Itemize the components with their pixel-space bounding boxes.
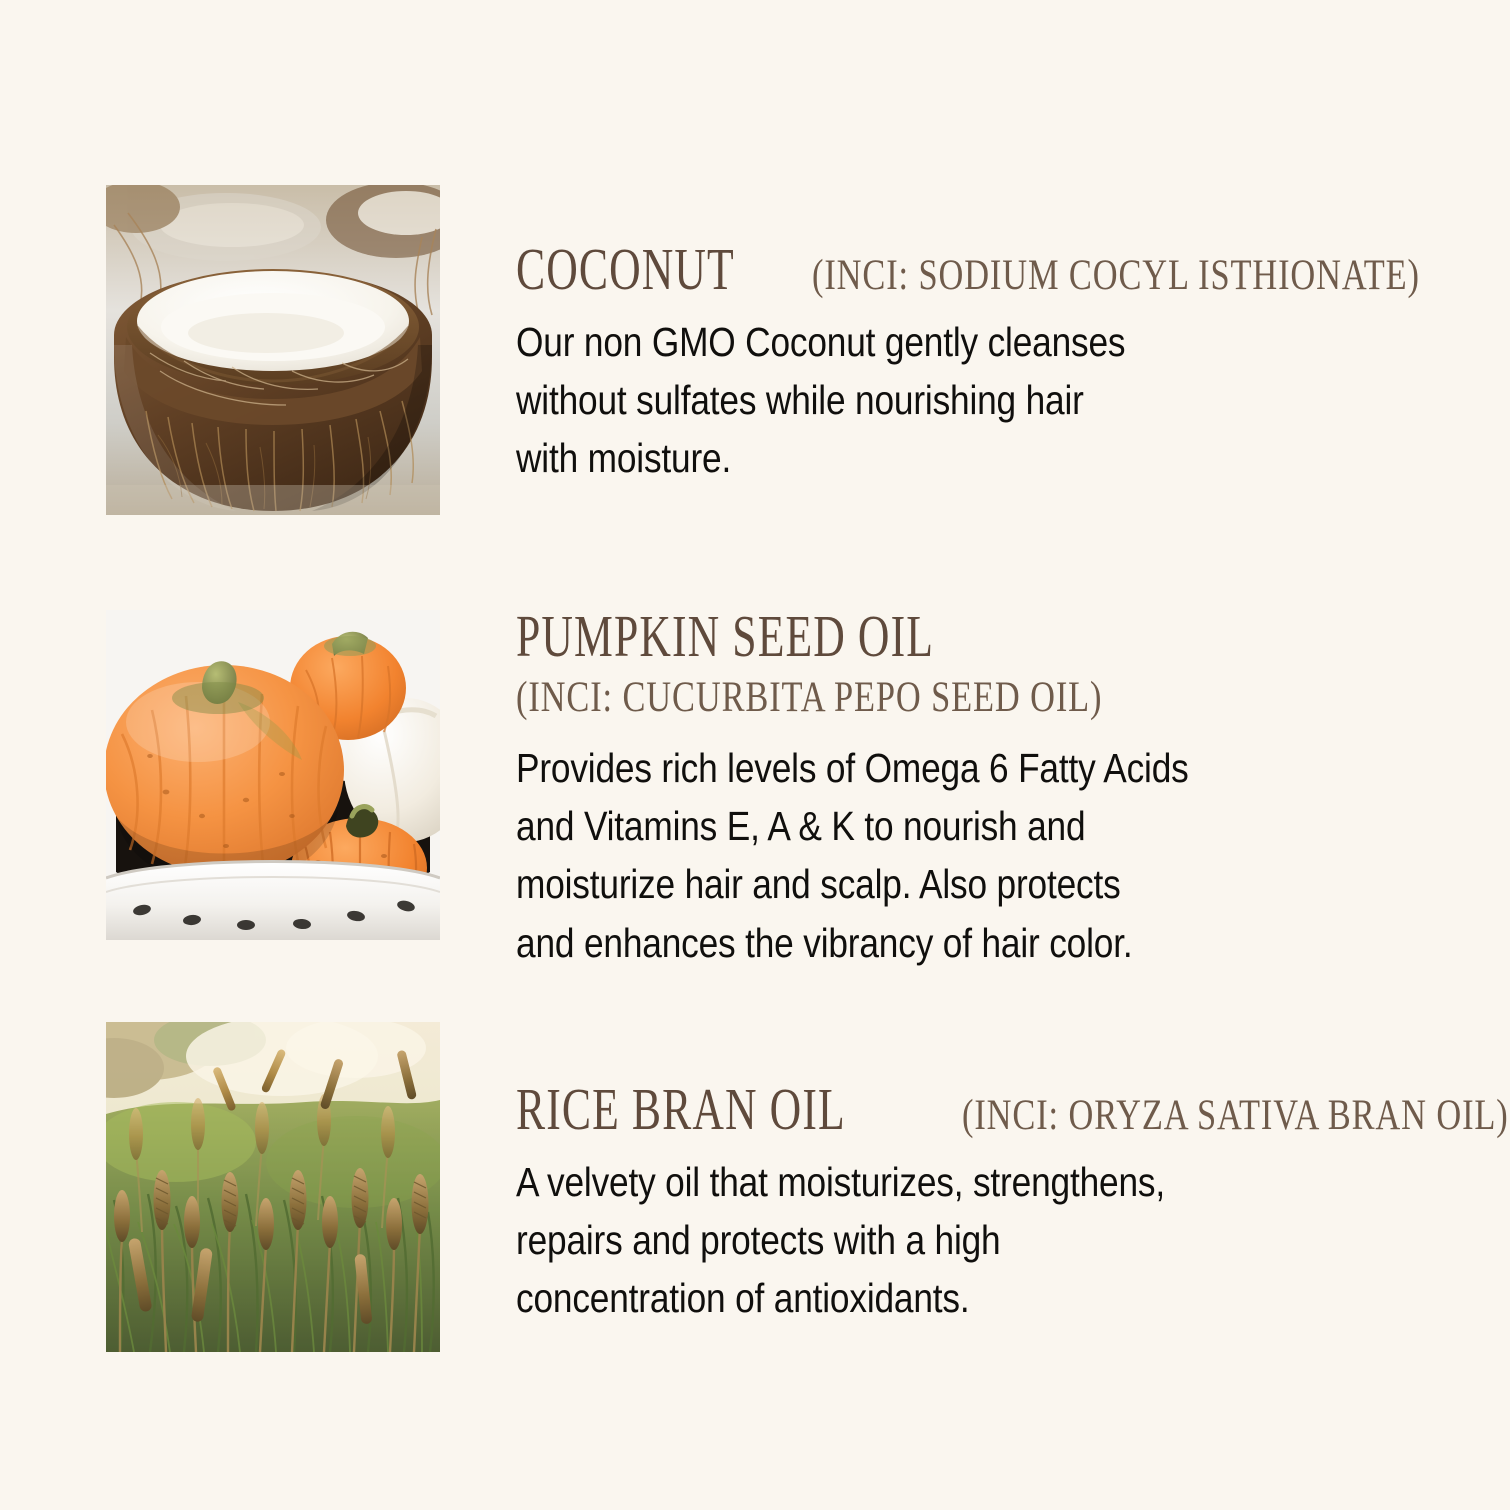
ingredient-benefits-panel: COCONUT(INCI: SODIUM COCYL ISTHIONATE) O…: [0, 0, 1510, 1510]
pumpkin-inci-line: (INCI: CUCURBITA PEPO SEED OIL): [516, 676, 1484, 719]
rice-heading: RICE BRAN OIL(INCI: ORYZA SATIVA BRAN OI…: [516, 1080, 1484, 1139]
rice-name: RICE BRAN OIL: [516, 1080, 846, 1139]
coconut-name: COCONUT: [516, 240, 735, 299]
coconut-image: [106, 185, 440, 515]
grain-field-illustration: [106, 1022, 440, 1352]
pumpkin-description: Provides rich levels of Omega 6 Fatty Ac…: [516, 739, 1348, 972]
pumpkin-image: [106, 610, 440, 940]
rice-inci: (INCI: ORYZA SATIVA BRAN OIL): [962, 1094, 1509, 1137]
pumpkin-copy: PUMPKIN SEED OIL (INCI: CUCURBITA PEPO S…: [516, 607, 1484, 972]
rice-description: A velvety oil that moisturizes, strength…: [516, 1153, 1348, 1328]
coconut-copy: COCONUT(INCI: SODIUM COCYL ISTHIONATE) O…: [516, 240, 1484, 488]
rice-field-image: [106, 1022, 440, 1352]
rice-copy: RICE BRAN OIL(INCI: ORYZA SATIVA BRAN OI…: [516, 1080, 1484, 1328]
coconut-illustration: [106, 185, 440, 515]
pumpkin-inci: (INCI: CUCURBITA PEPO SEED OIL): [516, 676, 1102, 719]
pumpkin-name: PUMPKIN SEED OIL: [516, 607, 934, 666]
pumpkin-illustration: [106, 610, 440, 940]
coconut-description: Our non GMO Coconut gently cleanses with…: [516, 313, 1348, 488]
pumpkin-heading: PUMPKIN SEED OIL: [516, 607, 1484, 666]
coconut-heading: COCONUT(INCI: SODIUM COCYL ISTHIONATE): [516, 240, 1484, 299]
coconut-inci: (INCI: SODIUM COCYL ISTHIONATE): [812, 254, 1420, 297]
